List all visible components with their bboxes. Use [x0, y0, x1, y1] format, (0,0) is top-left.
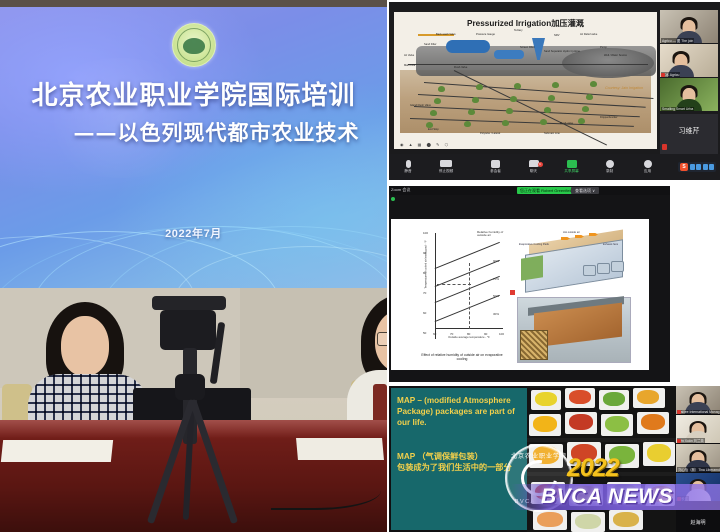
annotation-marker [509, 289, 516, 296]
vegetable [575, 514, 601, 529]
series-label-50: 50% [493, 294, 499, 298]
participant-name: Agricu — 图 The join [661, 38, 694, 43]
diagram-label: Pressure Gauge [476, 33, 495, 36]
participant-thumbnail-strip: Galilee International Manag Tên Xuân 刘兰英 [676, 386, 720, 532]
stop-video-label: 停止视频 [439, 169, 453, 174]
papers-left [1, 440, 113, 462]
participant-name: Smalling Smart Urba [661, 107, 694, 111]
vegetable [641, 414, 665, 430]
title-slide-photo: 北京农业职业学院国际培训 ——以色列现代都市农业技术 2022年7月 [0, 0, 387, 288]
bvca-logo-icon [172, 23, 216, 67]
diagram-label: Screen Filter [520, 46, 535, 49]
participants-label: 参会者 [490, 169, 501, 174]
exhaust-fan-icon [597, 263, 610, 274]
tripod-hub [175, 374, 205, 400]
diagram-label: Submain Line [544, 132, 560, 135]
participant-name: Tên Xuân 刘兰英 [677, 438, 705, 443]
record-button[interactable]: 录制 [591, 160, 629, 175]
share-screen-button[interactable]: 共享屏幕 [553, 160, 591, 175]
exhaust-fan-icon [611, 261, 624, 272]
diagram-label: Polytube / Lateral [480, 132, 500, 135]
diagram-label: Sand Filter [424, 43, 437, 46]
slide-top-edge [0, 0, 387, 7]
exhaust-fan-icon [583, 265, 596, 276]
apps-button[interactable]: 应用 [629, 160, 667, 175]
plant-icon [590, 81, 597, 87]
diagram-label: Air Valve [404, 54, 414, 57]
diagram-label: Main Line [404, 64, 415, 67]
zoom-meeting-label: Zoom 会议 [391, 187, 410, 193]
vegetable [613, 512, 639, 527]
participant-name: 刘心怡（副）Tina Liberamdo [677, 467, 720, 472]
share-screen-icon [567, 160, 577, 168]
microphone-icon [406, 160, 411, 168]
participant-thumbnail[interactable]: 陈冰 Agricu [660, 44, 718, 77]
left-column: 北京农业职业学院国际培训 ——以色列现代都市农业技术 2022年7月 [0, 0, 387, 532]
diagram-label: NRV [554, 34, 559, 37]
eyeglasses-icon [377, 332, 387, 346]
irrigation-title-en: Pressurized Irrigation [467, 19, 551, 28]
right-column: Pressurized Irrigation加压灌溉 [389, 0, 720, 532]
ime-pen-icon[interactable] [696, 164, 701, 170]
greenhouse-cooling-diagram: Evaporative Cooling Pads Hot outside air… [519, 231, 629, 293]
sand-filter-tank [446, 40, 490, 53]
bvca-news-wordmark: BVCA NEWS [541, 485, 673, 509]
shared-screen-irrigation-slide: Pressurized Irrigation加压灌溉 [394, 12, 657, 149]
plant-icon [548, 95, 555, 101]
shared-screen-cooling-slide: 100 90 80 70 60 50 60 70 80 90 100 [391, 219, 649, 370]
sogou-logo-icon: S [680, 163, 688, 171]
diagram-label: Gland Flush Valve [410, 104, 432, 107]
courtesy-credit: Courtesy: Jain Irrigation [605, 86, 643, 90]
cooling-pad-photo [517, 297, 631, 363]
honeycomb-pad-media [520, 330, 548, 360]
diagram-label: Dripper/Emitter [600, 116, 617, 119]
vegetable [537, 512, 563, 527]
chart-legend-title: Relative humidity of outside air [477, 231, 507, 238]
plant-icon [506, 108, 513, 114]
zoom-toolbar: 静音 停止视频 参会者 6 聊天 共享屏幕 [389, 154, 720, 180]
plant-icon [510, 96, 517, 102]
slide-annotation-toolbar[interactable]: ◉ ▲ ▦ ⬤ ✎ ⬡ [400, 142, 450, 147]
plant-icon [514, 83, 521, 89]
plant-icon [552, 82, 559, 88]
tripod-leg [189, 399, 238, 524]
series-label-70: 70% [493, 277, 499, 281]
series-label-30: 30% [493, 312, 499, 316]
apps-label: 应用 [644, 169, 651, 174]
vegetable [603, 392, 625, 406]
more-icon [644, 160, 652, 168]
mic-muted-icon [677, 410, 681, 414]
participant-thumbnail-active[interactable]: Smalling Smart Urba [660, 78, 718, 111]
diagram-label: Flush Valve [454, 66, 467, 69]
microphone-icon [152, 296, 226, 310]
plant-icon [578, 118, 585, 124]
share-active-dot [391, 197, 395, 201]
share-screen-label: 共享屏幕 [564, 169, 578, 174]
view-options-button[interactable]: 查看选项 ∨ [571, 187, 599, 194]
chart-x-axis-label: Outside average temperature - °F [429, 335, 509, 339]
chart-y-axis-label: Temperature of cooled air leaving pad - … [425, 234, 428, 296]
plant-icon [540, 119, 547, 125]
ime-voice-icon[interactable] [703, 164, 708, 170]
evaporative-cooling-chart: 100 90 80 70 60 50 60 70 80 90 100 [419, 229, 505, 347]
plant-icon [472, 97, 479, 103]
slide-background: 北京农业职业学院国际培训 ——以色列现代都市农业技术 2022年7月 [0, 7, 387, 288]
plant-icon [544, 107, 551, 113]
watermark-year: 2022 [567, 454, 619, 483]
presenters-photo [0, 288, 387, 532]
vegetable [569, 390, 591, 404]
ime-keyboard-icon[interactable] [709, 164, 714, 170]
diagram-label: Tertiary [514, 29, 523, 32]
participants-button[interactable]: 参会者 [477, 160, 515, 175]
plant-icon [468, 109, 475, 115]
stop-video-button[interactable]: 停止视频 [427, 160, 465, 174]
zoom-window-map-packaging: MAP – (modified Atmosphere Package) pack… [389, 386, 720, 532]
participant-thumbnail-active[interactable]: 刘心怡（副）Tina Liberamdo [676, 444, 720, 472]
secondary-tank [494, 50, 524, 59]
plant-icon [464, 121, 471, 127]
irrigation-title-cn: 加压灌溉 [551, 19, 584, 28]
diagram-label: Exhaust fans [603, 243, 618, 246]
logo-leaf-shape [183, 38, 205, 54]
chat-button[interactable]: 6 聊天 [515, 160, 553, 174]
y-tick: 60 [423, 311, 426, 315]
diagram-label: Flush valve [560, 122, 573, 125]
map-text-english: MAP – (modified Atmosphere Package) pack… [397, 396, 529, 428]
tripod-head [160, 310, 216, 350]
plant-icon [476, 84, 483, 90]
plant-icon [586, 94, 593, 100]
face [61, 316, 109, 376]
diagram-label: Pump [600, 46, 607, 49]
diagram-label: End Stop [428, 128, 439, 131]
chart-caption: Effect of relative humidity of outside a… [419, 353, 505, 362]
zoom-window-irrigation: Pressurized Irrigation加压灌溉 [389, 2, 720, 180]
chat-label: 聊天 [530, 169, 537, 174]
chart-guide-vertical [469, 263, 470, 329]
mic-muted-icon [677, 439, 681, 443]
ime-bar[interactable]: S [678, 162, 716, 172]
active-speaker-name: 赵海明 [676, 519, 720, 526]
mute-label: 静音 [404, 169, 411, 174]
zoom-window-evaporative-cooling: Zoom 会议 您正在观看 Robert Greenfield 的屏幕 查看选项… [389, 186, 670, 382]
vegetable [533, 416, 557, 432]
vegetable [605, 416, 629, 432]
mute-button[interactable]: 静音 [389, 160, 427, 175]
zoom-share-topbar: Zoom 会议 您正在观看 Robert Greenfield 的屏幕 查看选项… [389, 186, 670, 195]
vegetable [647, 444, 671, 462]
participant-thumbnail[interactable]: Galilee International Manag [676, 386, 720, 414]
slide-title: 北京农业职业学院国际培训 [0, 75, 387, 112]
papers-right [296, 438, 384, 460]
chat-unread-badge: 6 [538, 162, 543, 167]
series-line-90 [435, 242, 500, 269]
participant-name: 习维芹 [660, 126, 718, 136]
mic-muted-icon [662, 144, 667, 150]
diagram-label: Sand Separator Hydro Cyclone [544, 50, 580, 53]
main-line-pipe [408, 64, 648, 65]
screenshot-root: 北京农业职业学院国际培训 ——以色列现代都市农业技术 2022年7月 [0, 0, 720, 532]
vegetable [637, 390, 659, 404]
plant-icon [582, 106, 589, 112]
camera-tripod [134, 296, 254, 532]
record-label: 录制 [606, 169, 613, 174]
series-label-90: 90% [493, 259, 499, 263]
slide-date: 2022年7月 [0, 225, 387, 241]
diagram-label: Well / Water Source [604, 54, 632, 57]
diagram-label: Evaporative Cooling Pads [519, 243, 549, 246]
participant-name: Galilee International Manag [677, 410, 720, 414]
ime-lang-icon[interactable] [690, 164, 695, 170]
vegetable [569, 414, 593, 430]
participant-tile-no-video[interactable]: 习维芹 [660, 114, 718, 154]
irrigation-slide-title: Pressurized Irrigation加压灌溉 [394, 17, 657, 29]
participant-thumbnail[interactable]: Tên Xuân 刘兰英 [676, 415, 720, 443]
participant-thumbnail[interactable]: Agricu — 图 The join [660, 10, 718, 43]
slide-subtitle: ——以色列现代都市农业技术 [0, 117, 387, 147]
plant-icon [502, 120, 509, 126]
chart-guide-horizontal [437, 284, 471, 285]
record-icon [606, 160, 614, 168]
evaporative-cooling-pad [521, 255, 543, 280]
ime-toolbar[interactable]: S [678, 162, 716, 172]
participants-icon [491, 160, 500, 168]
diagram-label: Back-wash Valve [436, 33, 456, 36]
diagram-label: Hot outside air [563, 231, 580, 234]
camera-icon [440, 160, 452, 167]
plant-icon [430, 110, 437, 116]
plant-icon [434, 98, 441, 104]
y-tick: 50 [423, 331, 426, 335]
diagram-label: Air Relief valve [580, 33, 597, 36]
mic-muted-icon [661, 73, 665, 77]
plant-icon [438, 86, 445, 92]
vegetable [535, 392, 557, 406]
participant-thumbnail-strip: Agricu — 图 The join 陈冰 Agricu Smalling S… [660, 10, 718, 112]
